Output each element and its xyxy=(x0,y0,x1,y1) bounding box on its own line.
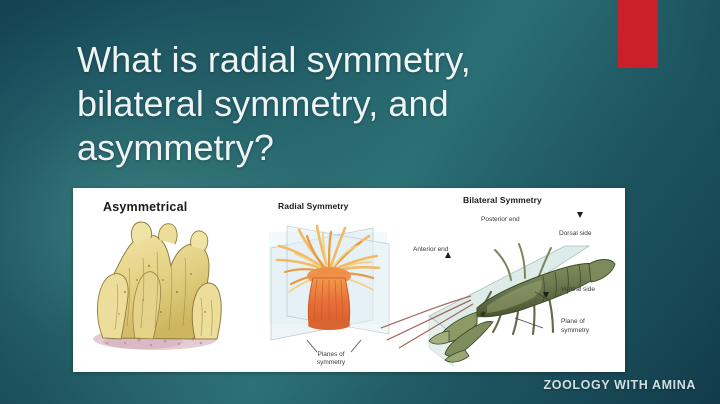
radial-anemone-illustration xyxy=(269,226,389,352)
slide-canvas: What is radial symmetry, bilateral symme… xyxy=(0,0,720,404)
radial-planes-of-symmetry-label-line2: symmetry xyxy=(291,359,371,367)
watermark-credit: ZOOLOGY WITH AMINA xyxy=(544,378,696,392)
label-ventral-side: Ventral side xyxy=(561,286,623,294)
accent-bar-red xyxy=(618,0,658,68)
asymmetrical-sponge-illustration xyxy=(93,222,221,350)
label-posterior-end: Posterior end xyxy=(481,216,551,224)
label-anterior-end: Anterior end xyxy=(413,246,475,254)
radial-planes-of-symmetry-label-line1: Planes of xyxy=(291,351,371,359)
bilateral-symmetry-heading: Bilateral Symmetry xyxy=(463,196,542,206)
label-plane-of-symmetry-line1: Plane of xyxy=(561,318,621,326)
page-title: What is radial symmetry, bilateral symme… xyxy=(77,38,607,170)
label-plane-of-symmetry-line2: symmetry xyxy=(561,327,621,335)
asymmetrical-heading: Asymmetrical xyxy=(103,200,187,214)
label-dorsal-side: Dorsal side xyxy=(559,230,621,238)
figure-panel: Asymmetrical Radial Symmetry Planes of s… xyxy=(73,188,625,372)
radial-symmetry-heading: Radial Symmetry xyxy=(278,202,348,212)
